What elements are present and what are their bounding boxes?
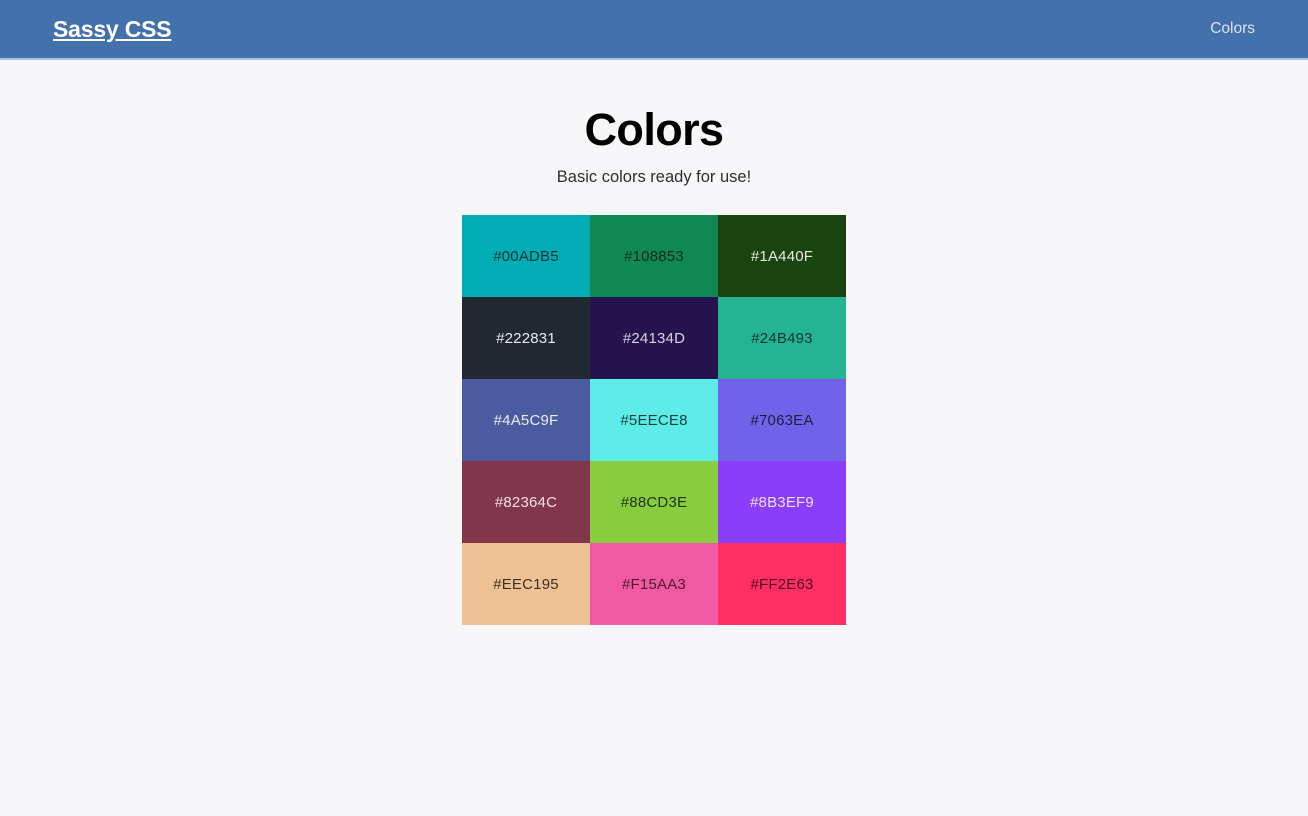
color-swatch-label: #7063EA — [750, 413, 813, 428]
color-swatch[interactable]: #5EECE8 — [590, 379, 718, 461]
page-title: Colors — [585, 104, 724, 156]
nav-item-colors: Colors — [1210, 20, 1255, 38]
color-swatch[interactable]: #7063EA — [718, 379, 846, 461]
color-swatch[interactable]: #88CD3E — [590, 461, 718, 543]
color-swatch-label: #82364C — [495, 495, 557, 510]
color-swatch[interactable]: #222831 — [462, 297, 590, 379]
color-swatch[interactable]: #00ADB5 — [462, 215, 590, 297]
color-swatch-label: #4A5C9F — [494, 413, 559, 428]
color-swatch-label: #108853 — [624, 249, 684, 264]
color-swatch-label: #8B3EF9 — [750, 495, 814, 510]
color-swatch[interactable]: #24B493 — [718, 297, 846, 379]
main-content: Colors Basic colors ready for use! #00AD… — [0, 60, 1308, 625]
nav-link-colors[interactable]: Colors — [1210, 20, 1255, 37]
color-swatch[interactable]: #8B3EF9 — [718, 461, 846, 543]
color-swatch-label: #24B493 — [751, 331, 812, 346]
color-swatch-label: #F15AA3 — [622, 577, 686, 592]
color-swatch[interactable]: #108853 — [590, 215, 718, 297]
color-swatch[interactable]: #1A440F — [718, 215, 846, 297]
navbar-brand[interactable]: Sassy CSS — [53, 18, 171, 41]
color-swatch-label: #24134D — [623, 331, 685, 346]
color-swatch[interactable]: #4A5C9F — [462, 379, 590, 461]
color-swatch[interactable]: #FF2E63 — [718, 543, 846, 625]
page-subtitle: Basic colors ready for use! — [557, 167, 751, 188]
top-navbar: Sassy CSS Colors — [0, 0, 1308, 60]
color-swatch-label: #88CD3E — [621, 495, 687, 510]
color-swatch-label: #1A440F — [751, 249, 813, 264]
color-swatch-grid: #00ADB5#108853#1A440F#222831#24134D#24B4… — [462, 215, 846, 625]
color-swatch-label: #222831 — [496, 331, 556, 346]
color-swatch-label: #5EECE8 — [620, 413, 687, 428]
color-swatch[interactable]: #82364C — [462, 461, 590, 543]
color-swatch-label: #FF2E63 — [750, 577, 813, 592]
color-swatch[interactable]: #F15AA3 — [590, 543, 718, 625]
color-swatch[interactable]: #EEC195 — [462, 543, 590, 625]
color-swatch-label: #00ADB5 — [493, 249, 559, 264]
navbar-nav: Colors — [1210, 20, 1255, 38]
color-swatch-label: #EEC195 — [493, 577, 559, 592]
color-swatch[interactable]: #24134D — [590, 297, 718, 379]
